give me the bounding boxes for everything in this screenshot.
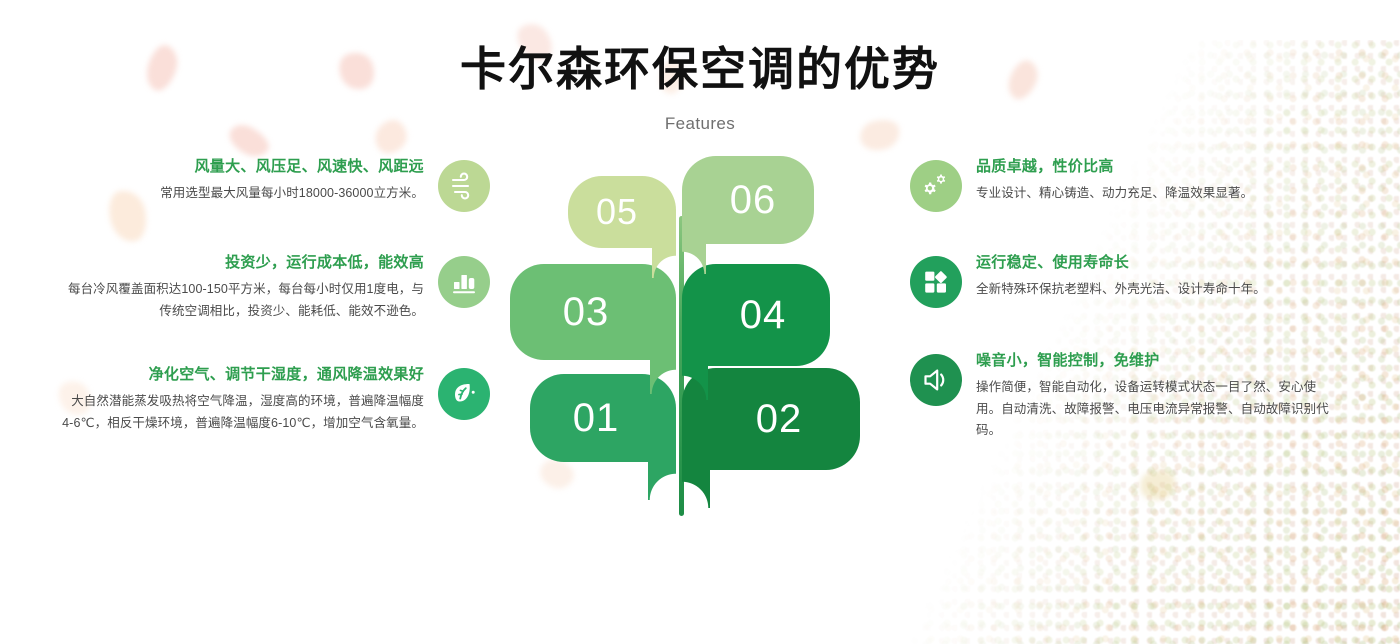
feature-title: 品质卓越，性价比高 <box>976 156 1340 179</box>
feature-item-low-noise[interactable]: 噪音小，智能控制，免维护 操作简便，智能自动化，设备运转模式状态一目了然、安心使… <box>910 350 1340 442</box>
leaf-number-06[interactable]: 06 <box>682 156 814 244</box>
leaf-cluster: 06 05 04 03 02 <box>490 156 910 516</box>
feature-title: 运行稳定、使用寿命长 <box>976 252 1340 275</box>
feature-description: 专业设计、精心铸造、动力充足、降温效果显著。 <box>976 183 1340 205</box>
leaf-number-03[interactable]: 03 <box>510 264 676 360</box>
gears-icon <box>910 160 962 212</box>
bar-chart-icon <box>438 256 490 308</box>
feature-item-quality[interactable]: 品质卓越，性价比高 专业设计、精心铸造、动力充足、降温效果显著。 <box>910 156 1340 212</box>
leaf-number-label: 03 <box>563 290 610 335</box>
leaf-tail <box>648 458 676 500</box>
feature-description: 每台冷风覆盖面积达100-150平方米，每台每小时仅用1度电，与传统空调相比，投… <box>60 279 424 323</box>
page-title: 卡尔森环保空调的优势 <box>0 42 1400 97</box>
leaf-number-label: 04 <box>740 293 787 338</box>
feature-page: 卡尔森环保空调的优势 Features 风量大、风压足、风速快、风距远 常用选型… <box>0 0 1400 644</box>
feature-text-block: 噪音小，智能控制，免维护 操作简便，智能自动化，设备运转模式状态一目了然、安心使… <box>976 350 1340 442</box>
right-feature-column: 品质卓越，性价比高 专业设计、精心铸造、动力充足、降温效果显著。 <box>910 156 1340 516</box>
leaf-number-05[interactable]: 05 <box>568 176 676 248</box>
leaf-number-label: 02 <box>756 397 803 442</box>
leaf-tail <box>682 362 708 400</box>
feature-title: 噪音小，智能控制，免维护 <box>976 350 1340 373</box>
page-subtitle: Features <box>0 114 1400 134</box>
leaf-tail <box>652 244 676 278</box>
wind-icon <box>438 160 490 212</box>
feature-text-block: 风量大、风压足、风速快、风距远 常用选型最大风量每小时18000-36000立方… <box>60 156 424 204</box>
feature-description: 全新特殊环保抗老塑料、外壳光洁、设计寿命十年。 <box>976 279 1340 301</box>
feature-item-wind[interactable]: 风量大、风压足、风速快、风距远 常用选型最大风量每小时18000-36000立方… <box>60 156 490 212</box>
feature-item-stability[interactable]: 运行稳定、使用寿命长 全新特殊环保抗老塑料、外壳光洁、设计寿命十年。 <box>910 252 1340 308</box>
feature-item-air-purify[interactable]: 净化空气、调节干湿度，通风降温效果好 大自然潜能蒸发吸热将空气降温，湿度高的环境… <box>60 364 490 434</box>
leaf-tail <box>682 466 710 508</box>
leaf-tail <box>682 240 706 274</box>
feature-item-efficiency[interactable]: 投资少，运行成本低，能效高 每台冷风覆盖面积达100-150平方米，每台每小时仅… <box>60 252 490 322</box>
leaf-cluster-column: 06 05 04 03 02 <box>490 156 910 516</box>
feature-description: 操作简便，智能自动化，设备运转模式状态一目了然、安心使用。自动清洗、故障报警、电… <box>976 377 1340 443</box>
leaf-number-02[interactable]: 02 <box>682 368 860 470</box>
features-layout: 风量大、风压足、风速快、风距远 常用选型最大风量每小时18000-36000立方… <box>0 156 1400 516</box>
feature-text-block: 净化空气、调节干湿度，通风降温效果好 大自然潜能蒸发吸热将空气降温，湿度高的环境… <box>60 364 424 434</box>
leaf-tail <box>650 356 676 394</box>
feature-text-block: 运行稳定、使用寿命长 全新特殊环保抗老塑料、外壳光洁、设计寿命十年。 <box>976 252 1340 300</box>
leaf-number-label: 01 <box>573 396 620 441</box>
feature-title: 净化空气、调节干湿度，通风降温效果好 <box>60 364 424 387</box>
speaker-icon <box>910 354 962 406</box>
feature-description: 大自然潜能蒸发吸热将空气降温，湿度高的环境，普遍降温幅度4-6℃，相反干燥环境，… <box>60 391 424 435</box>
leaf-number-label: 05 <box>596 191 638 233</box>
leaf-number-label: 06 <box>730 178 777 223</box>
feature-text-block: 品质卓越，性价比高 专业设计、精心铸造、动力充足、降温效果显著。 <box>976 156 1340 204</box>
leaf-number-04[interactable]: 04 <box>682 264 830 366</box>
feature-description: 常用选型最大风量每小时18000-36000立方米。 <box>60 183 424 205</box>
feature-title: 风量大、风压足、风速快、风距远 <box>60 156 424 179</box>
page-header: 卡尔森环保空调的优势 Features <box>0 0 1400 134</box>
blocks-icon <box>910 256 962 308</box>
feature-text-block: 投资少，运行成本低，能效高 每台冷风覆盖面积达100-150平方米，每台每小时仅… <box>60 252 424 322</box>
leaf-icon <box>438 368 490 420</box>
left-feature-column: 风量大、风压足、风速快、风距远 常用选型最大风量每小时18000-36000立方… <box>60 156 490 516</box>
feature-title: 投资少，运行成本低，能效高 <box>60 252 424 275</box>
